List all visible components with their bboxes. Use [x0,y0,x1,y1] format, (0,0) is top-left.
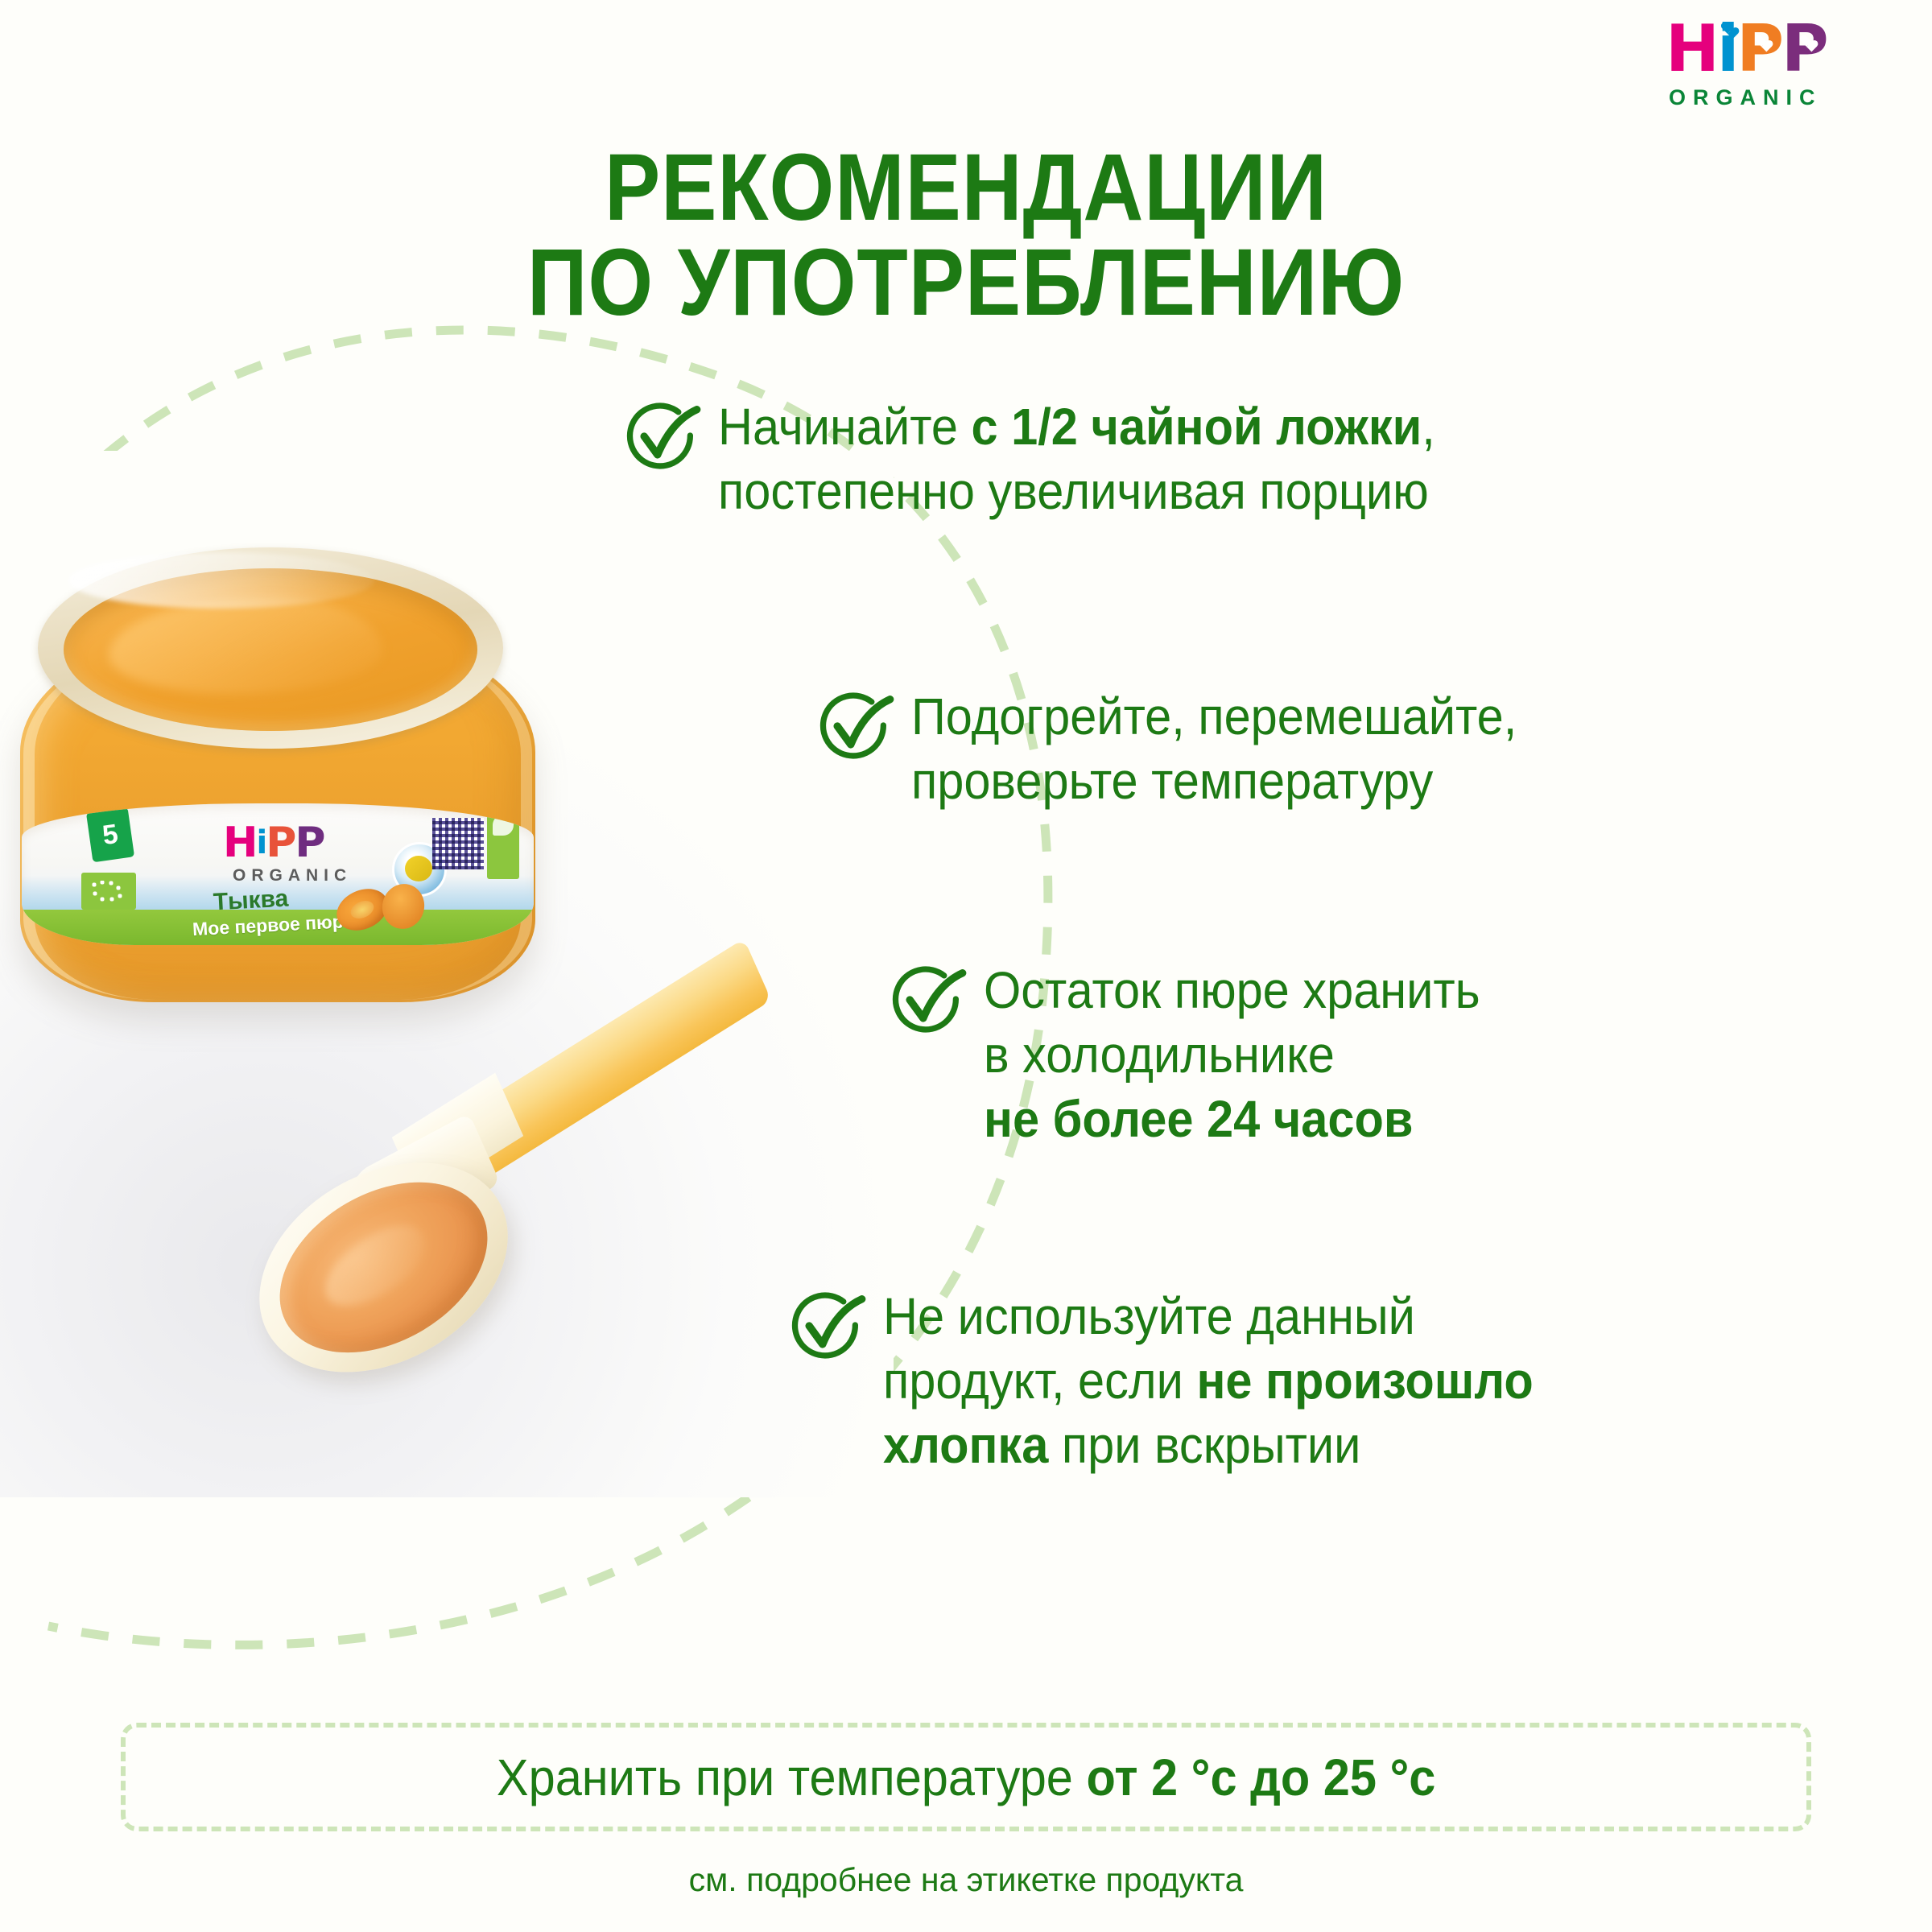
puree-jar: 5 HiPP ORGANIC Тыква Мое первое пюре [20,547,535,1014]
logo-letter-h: H [1666,18,1717,80]
check-circle-icon [785,1284,869,1368]
tip-line: Подогрейте, перемешайте, [911,684,1517,749]
tip-line: не более 24 часов [984,1087,1480,1151]
logo-letter-p-orange: P [1736,18,1781,80]
tip-line: хлопка при вскрытии [883,1413,1534,1477]
logo-letter-p-purple: P [1781,18,1827,80]
tip-text-4: Не используйте данный продукт, если не п… [883,1284,1534,1477]
page-title-line-2: ПО УПОТРЕБЛЕНИЮ [116,235,1816,330]
tip-line: в холодильнике [984,1022,1480,1087]
tip-item-3: Остаток пюре хранить в холодильнике не б… [885,958,1517,1151]
tip-line: продукт, если не произошло [883,1348,1534,1413]
heart-icon-white-1 [1754,35,1768,48]
tip-item-4: Не используйте данный продукт, если не п… [785,1284,1583,1477]
hipp-wordmark: H i P P [1666,18,1864,80]
logo-tagline: ORGANIC [1669,85,1864,110]
tip-text-3: Остаток пюре хранить в холодильнике не б… [984,958,1480,1151]
tip-item-1: Начинайте с 1/2 чайной ложки, постепенно… [620,394,1489,523]
tip-text-2: Подогрейте, перемешайте, проверьте темпе… [911,684,1517,813]
heart-icon-white-2 [1799,35,1813,48]
page-title: РЕКОМЕНДАЦИИ ПО УПОТРЕБЛЕНИЮ [116,140,1816,330]
heart-icon-blue [1721,23,1735,35]
check-circle-icon [620,394,704,478]
eu-organic-leaf-icon [81,873,136,910]
storage-temperature-text: Хранить при температуре от 2 °с до 25 °с [497,1749,1436,1806]
tip-item-2: Подогрейте, перемешайте, проверьте темпе… [813,684,1563,813]
storage-temperature-box: Хранить при температуре от 2 °с до 25 °с [121,1723,1811,1831]
tip-line: Не используйте данный [883,1284,1534,1348]
tip-line: Остаток пюре хранить [984,958,1480,1022]
product-photo: 5 HiPP ORGANIC Тыква Мое первое пюре [0,451,894,1497]
label-green-side-block [487,807,519,879]
storage-note: см. подробнее на этикетке продукта [0,1861,1932,1898]
jar-label: 5 HiPP ORGANIC Тыква Мое первое пюре [22,803,534,945]
tip-line: постепенно увеличивая порцию [718,459,1435,523]
spoon-puree [250,1147,518,1387]
label-product-name: Тыква [213,885,289,917]
infographic-page: H i P P ORGANIC РЕКОМЕНДАЦИИ ПО УПОТРЕБЛ… [0,0,1932,1932]
page-title-line-1: РЕКОМЕНДАЦИИ [116,140,1816,235]
logo-letter-i: i [1717,18,1736,80]
label-brand-tagline: ORGANIC [233,866,352,885]
jar-rim-highlight [68,552,374,609]
check-circle-icon [885,958,969,1042]
age-badge: 5 [86,807,134,863]
tip-line: проверьте температуру [911,749,1517,813]
tip-line: Начинайте с 1/2 чайной ложки, [718,394,1435,459]
label-brand-wordmark: HiPP [223,824,324,861]
qr-code-icon [432,818,484,869]
hipp-organic-logo: H i P P ORGANIC [1654,18,1864,130]
tip-text-1: Начинайте с 1/2 чайной ложки, постепенно… [718,394,1435,523]
check-circle-icon [813,684,897,768]
